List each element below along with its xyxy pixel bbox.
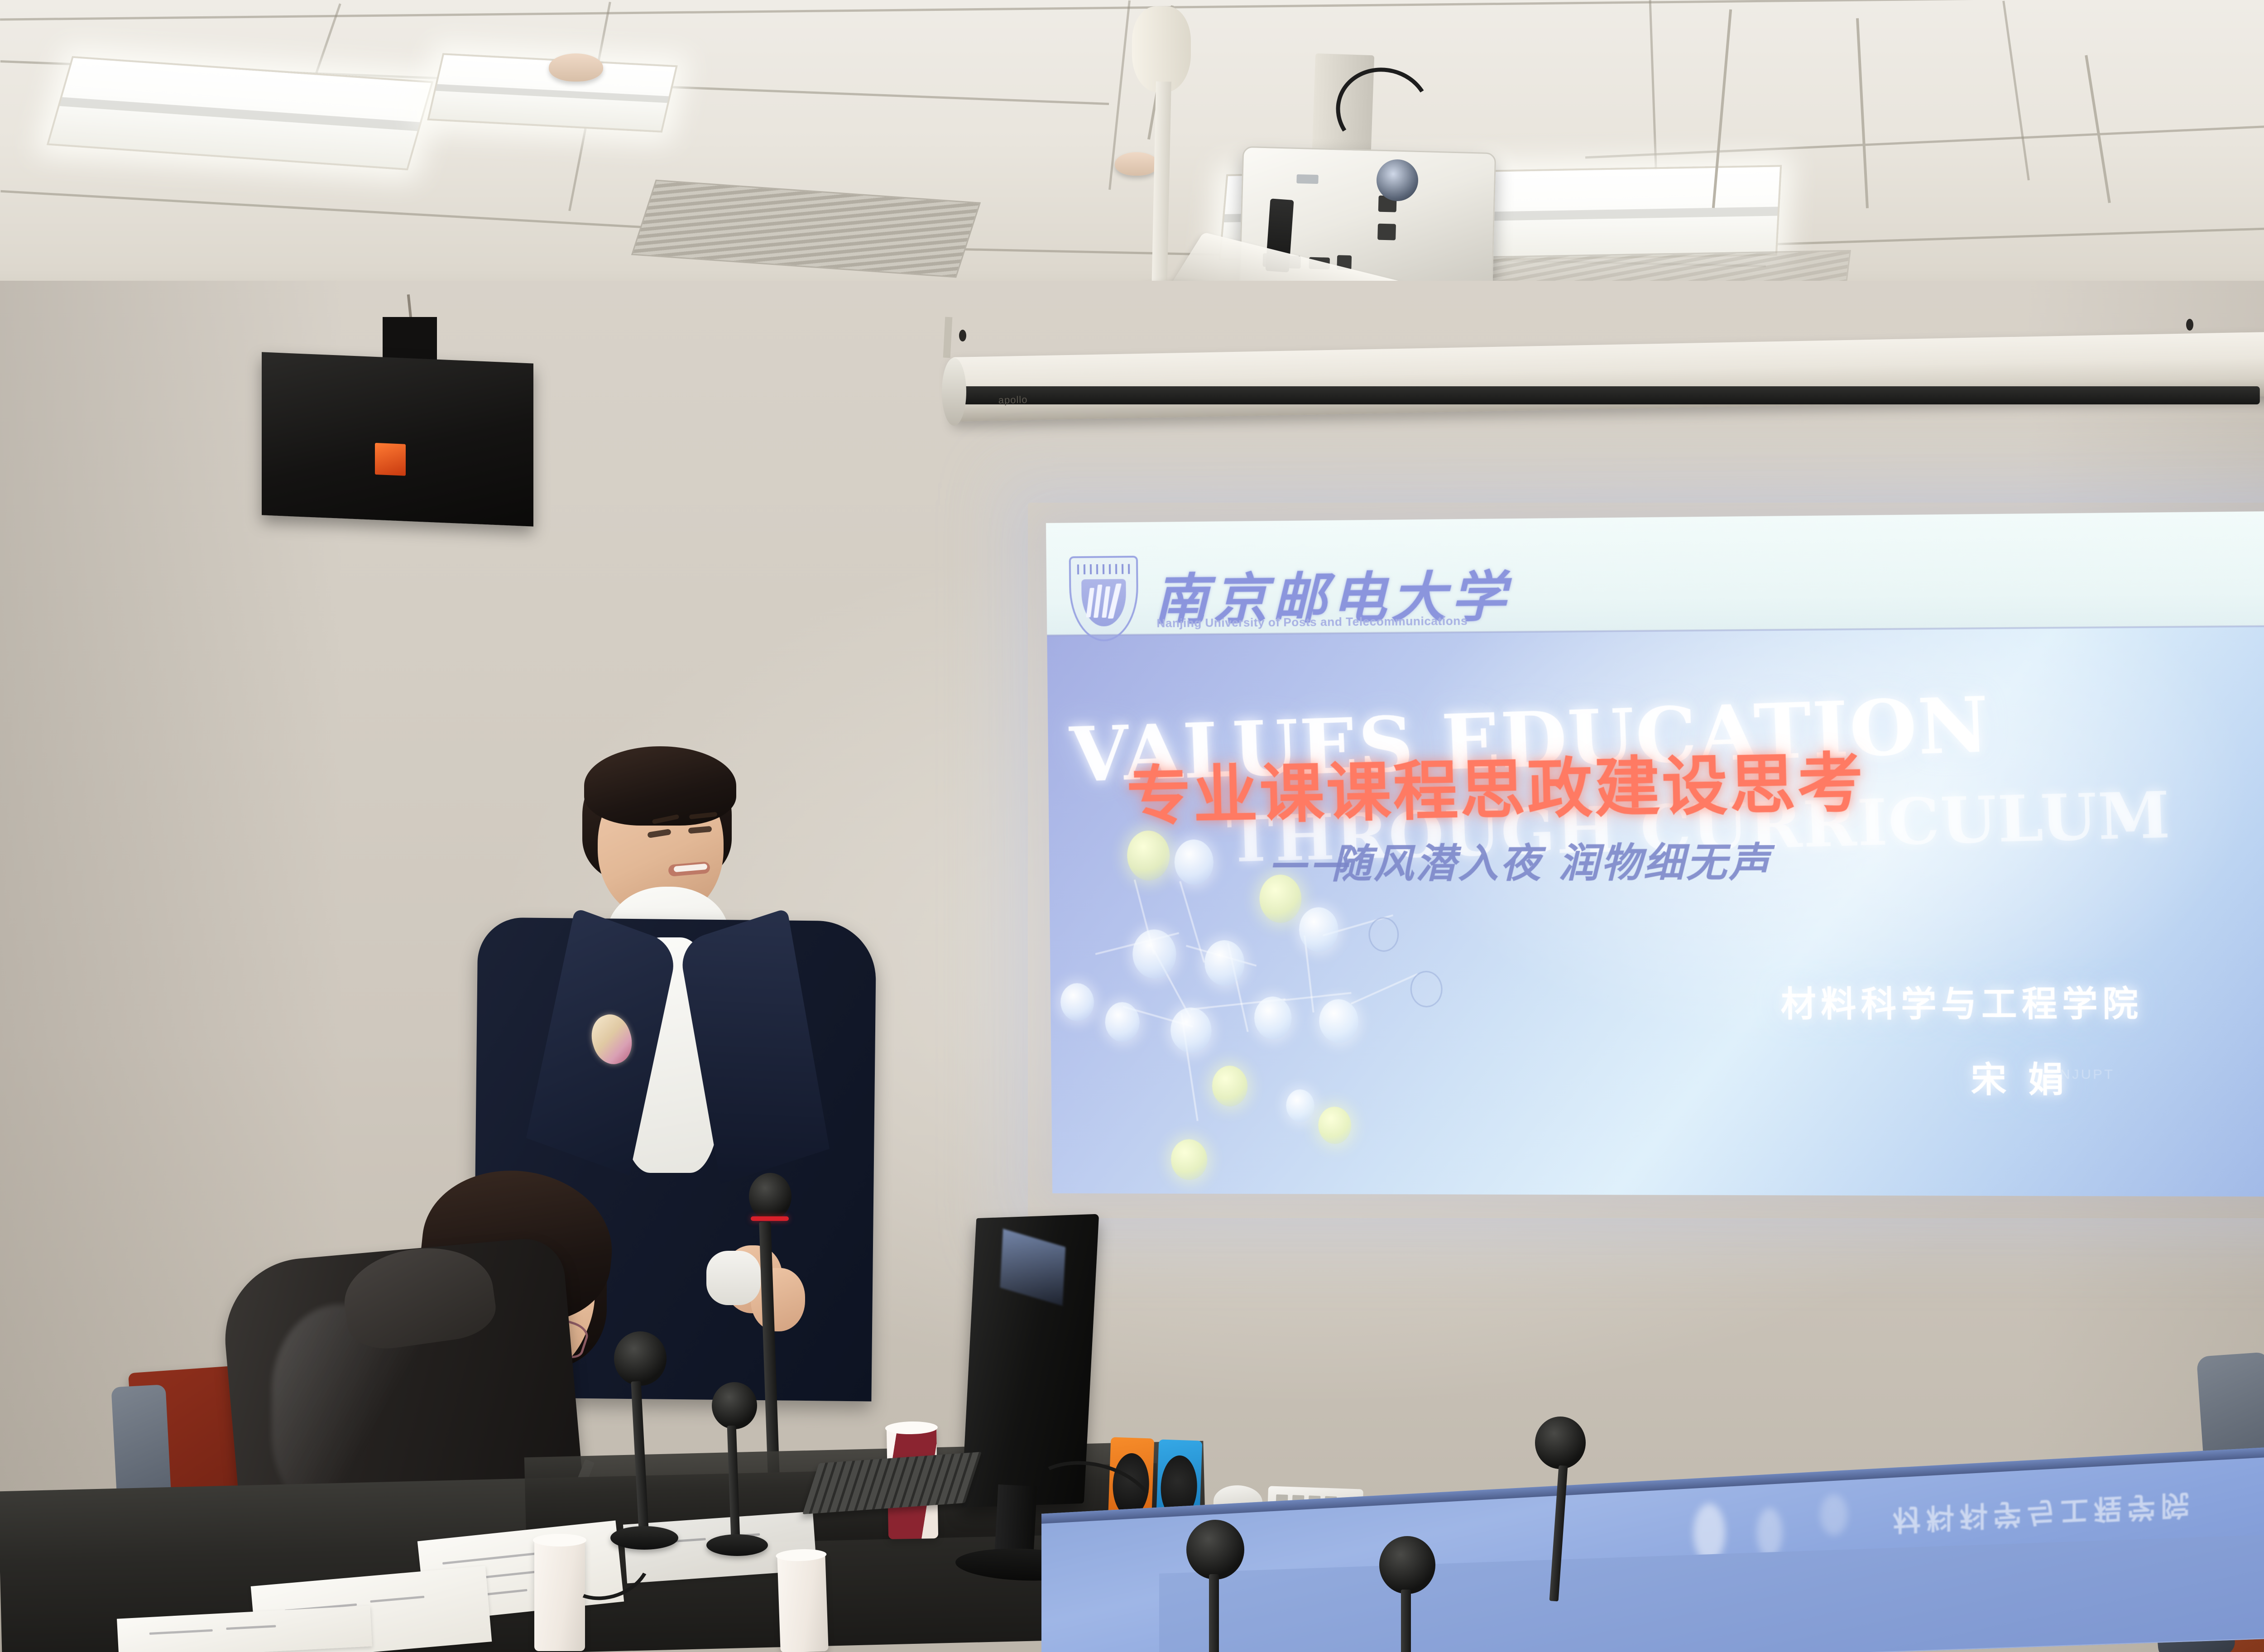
table-light-reflection [1820,1494,1847,1535]
university-name-en: Nanjing University of Posts and Telecomm… [1156,614,1468,630]
smoke-detector [1115,152,1158,176]
screen-mount-screw [2186,319,2193,331]
wall-mounted-speaker [262,352,533,526]
screen-brand-label: apollo [998,394,1028,406]
screen-roller-end-cap [942,358,966,426]
ceiling-light-panel [1487,165,1782,260]
projector-lens-icon [1377,159,1418,201]
slide-department-cn: 材料科学与工程学院 [1780,975,2143,1027]
slide-title-cn: 专业课课程思政建设思考 [1125,730,1866,837]
screen-mount-screw [959,330,966,341]
smoke-detector [549,53,603,82]
ceiling-fan-canopy [1132,6,1191,92]
classroom-scene: apollo 南京邮电大学 Nanjing University of Post… [0,0,2264,1652]
table-light-reflection [1757,1508,1782,1558]
slide-author-watermark: NJUPT [2060,1067,2115,1083]
speaker-logo-badge [375,443,406,476]
paper-cup[interactable] [777,1552,829,1652]
slide-subtitle-cn: 随风潜入夜 润物细无声 [1331,830,1771,889]
projected-slide: 南京邮电大学 Nanjing University of Posts and T… [1046,511,2264,1197]
slide-author-cn: 宋 娟 [1971,1051,2069,1102]
